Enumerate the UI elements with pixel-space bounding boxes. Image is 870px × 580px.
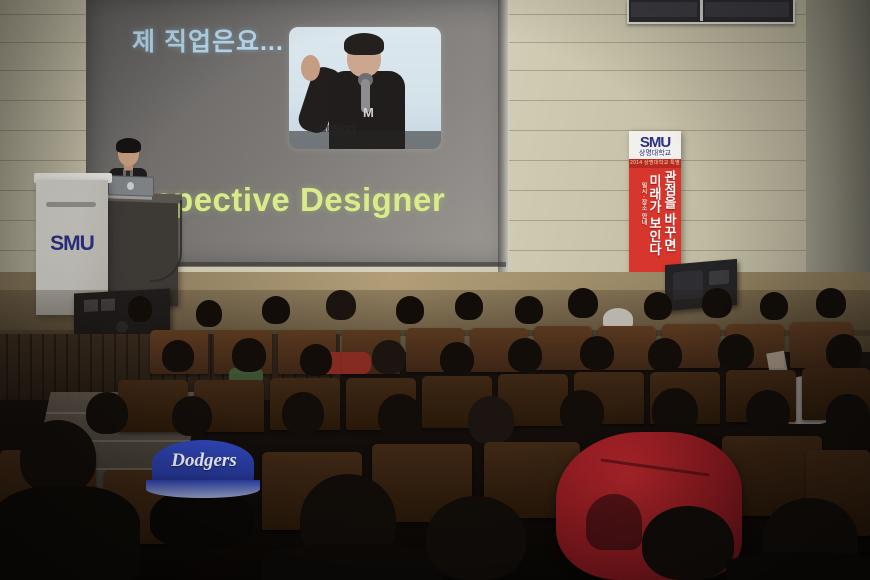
audience-head	[440, 342, 474, 376]
photo-person-hair	[344, 33, 384, 55]
audience-shoulders	[0, 486, 140, 580]
audience-head	[648, 338, 682, 372]
slide-subtitle: erspective Designer	[122, 181, 522, 221]
laptop-logo-icon	[127, 182, 134, 190]
audience-head	[816, 288, 846, 318]
audience-head	[86, 392, 128, 434]
audience-head	[426, 496, 526, 580]
audience-head	[718, 334, 754, 370]
audience-head	[300, 344, 332, 376]
audience-head	[262, 296, 290, 324]
audience-head	[568, 288, 598, 318]
audience-head	[326, 290, 356, 320]
audience-head	[652, 388, 698, 434]
lectern-handle	[46, 202, 96, 207]
speaker-horn	[709, 270, 729, 286]
presenter-hair	[116, 138, 141, 153]
av-unit	[705, 2, 789, 17]
audience-head	[378, 394, 422, 438]
audience-head	[826, 334, 862, 370]
banner-university-name: 상명대학교	[629, 148, 681, 158]
audience-head	[468, 396, 514, 444]
audience-head	[172, 396, 212, 436]
photo-caption: design	[319, 120, 387, 136]
audience-head	[515, 296, 543, 324]
cap-brim	[146, 480, 260, 498]
audience-head	[396, 296, 424, 324]
audience-head	[282, 392, 324, 434]
audience-head	[232, 338, 266, 372]
photo-person-hand	[301, 55, 320, 81]
av-equipment-rack	[627, 0, 795, 24]
jacket-fold	[586, 494, 642, 550]
banner-logo-panel: SMU 상명대학교	[629, 131, 681, 159]
cap-logo-text: Dodgers	[156, 450, 252, 472]
banner-detail-line: 일시 · 장소 안내	[639, 182, 648, 248]
banner-slogan: 관점을 바꾸면 미래가 보인다 일시 · 장소 안내	[629, 168, 681, 278]
audience-head	[455, 292, 483, 320]
slide-photo: M design	[289, 27, 441, 149]
audience-head	[372, 340, 406, 374]
audience-shoulders	[726, 552, 870, 580]
av-unit	[631, 2, 697, 17]
audience-head	[128, 296, 152, 322]
projection-screen-edge	[498, 0, 509, 272]
dodgers-cap: Dodgers	[146, 440, 260, 502]
audience-head	[760, 292, 788, 320]
audience-head	[702, 288, 732, 318]
banner-ribbon: 2014 상명대학교 특별강연	[629, 159, 681, 168]
audience-shoulders	[262, 544, 442, 580]
audience-head	[560, 390, 604, 434]
audience-head	[162, 340, 194, 372]
lecture-hall-photo: 제 직업은요... M design erspective Designer S…	[0, 0, 870, 580]
audience-head	[196, 300, 222, 327]
audience-head	[580, 336, 614, 370]
av-rack-divider	[700, 0, 703, 21]
audience-head	[508, 338, 542, 372]
audience-head	[826, 394, 870, 438]
audience-head	[642, 506, 734, 580]
audience-head	[746, 390, 790, 434]
audience-head	[20, 420, 96, 494]
audience-head	[644, 292, 672, 320]
lectern-smu-logo: SMU	[36, 232, 108, 256]
